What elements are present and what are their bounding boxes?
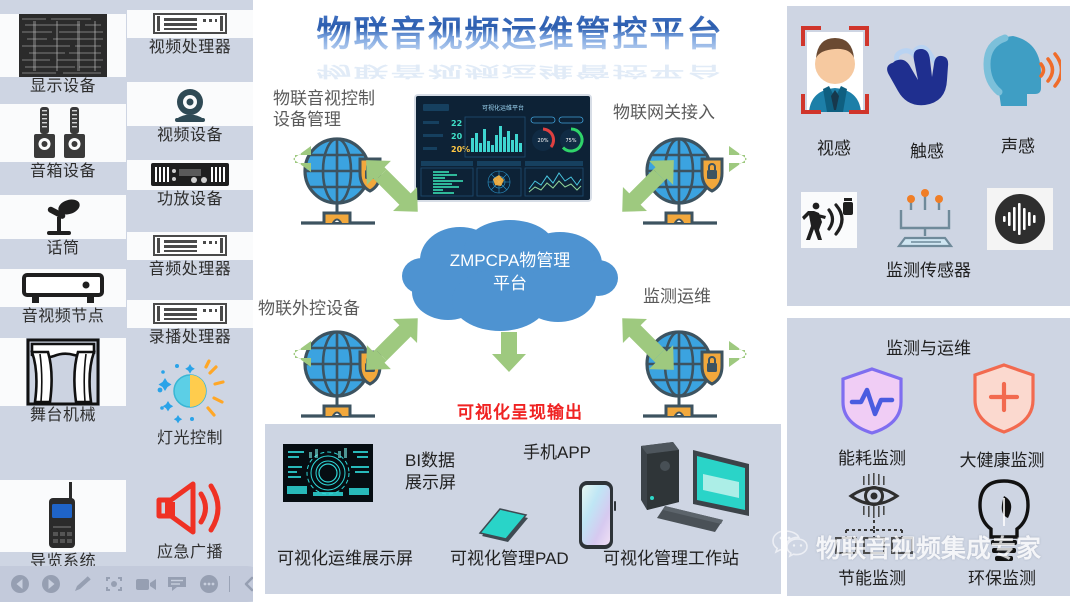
monitoring-ops-panel: 监测与运维 能耗监测 大健康监测 xyxy=(787,318,1070,596)
sidebar-item-display[interactable]: 显示设备 xyxy=(0,14,126,96)
record-video-button[interactable] xyxy=(130,570,162,598)
sidebar-item-av-node[interactable]: 音视频节点 xyxy=(0,269,126,326)
laser-pointer-button[interactable] xyxy=(99,570,131,598)
sidebar-item-amplifier[interactable]: 功放设备 xyxy=(127,160,253,209)
workstation-icon xyxy=(635,440,755,539)
motion-sensor-icon xyxy=(801,192,857,253)
sidebar-item-label: 功放设备 xyxy=(127,191,253,209)
toolbar-divider xyxy=(229,576,230,592)
sidebar-item-audio-processor[interactable]: 音频处理器 xyxy=(127,232,253,279)
presentation-toolbar[interactable] xyxy=(0,566,265,602)
energy-monitor-label: 能耗监测 xyxy=(807,444,937,469)
eye-monitor-icon xyxy=(833,472,919,567)
rack-processor-icon xyxy=(127,300,253,328)
shield-pulse-icon xyxy=(839,366,905,441)
sensing-label-touch: 触感 xyxy=(882,137,972,162)
rack-processor-icon xyxy=(127,10,253,38)
sidebar-item-label: 话筒 xyxy=(0,240,126,258)
energy-saving-label: 节能监测 xyxy=(807,564,937,589)
center-diagram: 物联音视频运维管控平台 物联音视频运维管控平台 物联音视控制 设备管理 物联外控… xyxy=(253,0,787,602)
sidebar-item-emergency-broadcast[interactable]: 应急广播 xyxy=(127,478,253,562)
sidebar-item-label: 应急广播 xyxy=(127,544,253,562)
handheld-guide-icon xyxy=(0,480,126,552)
speaker-pair-icon xyxy=(0,104,126,162)
mobile-app-note: 手机APP xyxy=(523,438,591,463)
voice-head-icon xyxy=(983,32,1061,113)
sidebar-column-left: 显示设备 xyxy=(0,0,126,602)
sidebar-item-label: 视频设备 xyxy=(127,127,253,145)
shield-cross-icon xyxy=(971,362,1037,441)
environment-sensor-icon xyxy=(887,188,963,257)
workstation-label: 可视化管理工作站 xyxy=(603,544,739,569)
sidebar-item-video-processor[interactable]: 视频处理器 xyxy=(127,10,253,57)
sidebar-item-speaker[interactable]: 音箱设备 xyxy=(0,104,126,181)
sidebar-item-video-device[interactable]: 视频设备 xyxy=(127,82,253,145)
bi-dashboard-screen-icon xyxy=(283,444,373,507)
bi-screen-note: BI数据 展示屏 xyxy=(405,450,456,494)
sidebar-item-label: 音频处理器 xyxy=(127,261,253,279)
prev-slide-button[interactable] xyxy=(4,570,36,598)
stage-curtain-icon xyxy=(0,338,126,406)
amplifier-icon xyxy=(127,160,253,190)
sidebar-item-microphone[interactable]: 话筒 xyxy=(0,195,126,258)
ops-panel-heading: 监测与运维 xyxy=(787,334,1070,359)
visualization-output-panel: BI数据 展示屏 手机APP 可视化管理PAD xyxy=(265,424,781,594)
health-monitor-label: 大健康监测 xyxy=(937,446,1067,471)
sidebar-item-label: 显示设备 xyxy=(0,78,126,96)
sensor-group-label: 监测传感器 xyxy=(787,256,1070,281)
next-slide-button[interactable] xyxy=(36,570,68,598)
sidebar-item-light-control[interactable]: 灯光控制 xyxy=(127,358,253,448)
device-sidebar: 显示设备 xyxy=(0,0,253,602)
sidebar-item-stage[interactable]: 舞台机械 xyxy=(0,338,126,425)
sidebar-item-guide-system[interactable]: 导览系统 xyxy=(0,480,126,571)
slide-canvas: 显示设备 xyxy=(0,0,1080,602)
pen-tool-button[interactable] xyxy=(67,570,99,598)
sidebar-item-label: 舞台机械 xyxy=(0,407,126,425)
bi-display-label: 可视化运维展示屏 xyxy=(277,544,413,569)
camera-icon xyxy=(127,82,253,126)
sidebar-item-recording-processor[interactable]: 录播处理器 xyxy=(127,300,253,347)
pad-label: 可视化管理PAD xyxy=(450,544,569,569)
sidebar-item-label: 音视频节点 xyxy=(0,308,126,326)
sidebar-item-label: 音箱设备 xyxy=(0,163,126,181)
sidebar-item-label: 录播处理器 xyxy=(127,329,253,347)
sensing-panel: 视感 触感 声感 xyxy=(787,6,1070,306)
output-banner: 可视化呈现输出 xyxy=(253,398,787,423)
eco-bulb-icon xyxy=(973,478,1035,569)
comments-button[interactable] xyxy=(162,570,194,598)
cloud-platform-label: ZMPCPA物管理 平台 xyxy=(400,250,620,296)
rack-processor-icon xyxy=(127,232,253,260)
sensing-label-voice: 声感 xyxy=(973,132,1063,157)
sound-wave-icon xyxy=(987,188,1053,255)
microphone-icon xyxy=(0,195,126,239)
hand-touch-icon xyxy=(885,38,967,113)
more-options-button[interactable] xyxy=(193,570,225,598)
megaphone-icon xyxy=(127,478,253,543)
sidebar-column-right: 视频处理器 视频设备 xyxy=(127,0,253,602)
cloud-platform: ZMPCPA物管理 平台 xyxy=(400,216,620,334)
eco-monitor-label: 环保监测 xyxy=(937,564,1067,589)
face-recognition-icon xyxy=(799,24,871,125)
sidebar-item-label: 视频处理器 xyxy=(127,39,253,57)
sidebar-item-label: 灯光控制 xyxy=(127,430,253,448)
display-screen-icon xyxy=(0,14,126,77)
light-control-icon xyxy=(127,358,253,429)
sensing-label-visual: 视感 xyxy=(787,134,881,159)
av-node-box-icon xyxy=(0,269,126,307)
